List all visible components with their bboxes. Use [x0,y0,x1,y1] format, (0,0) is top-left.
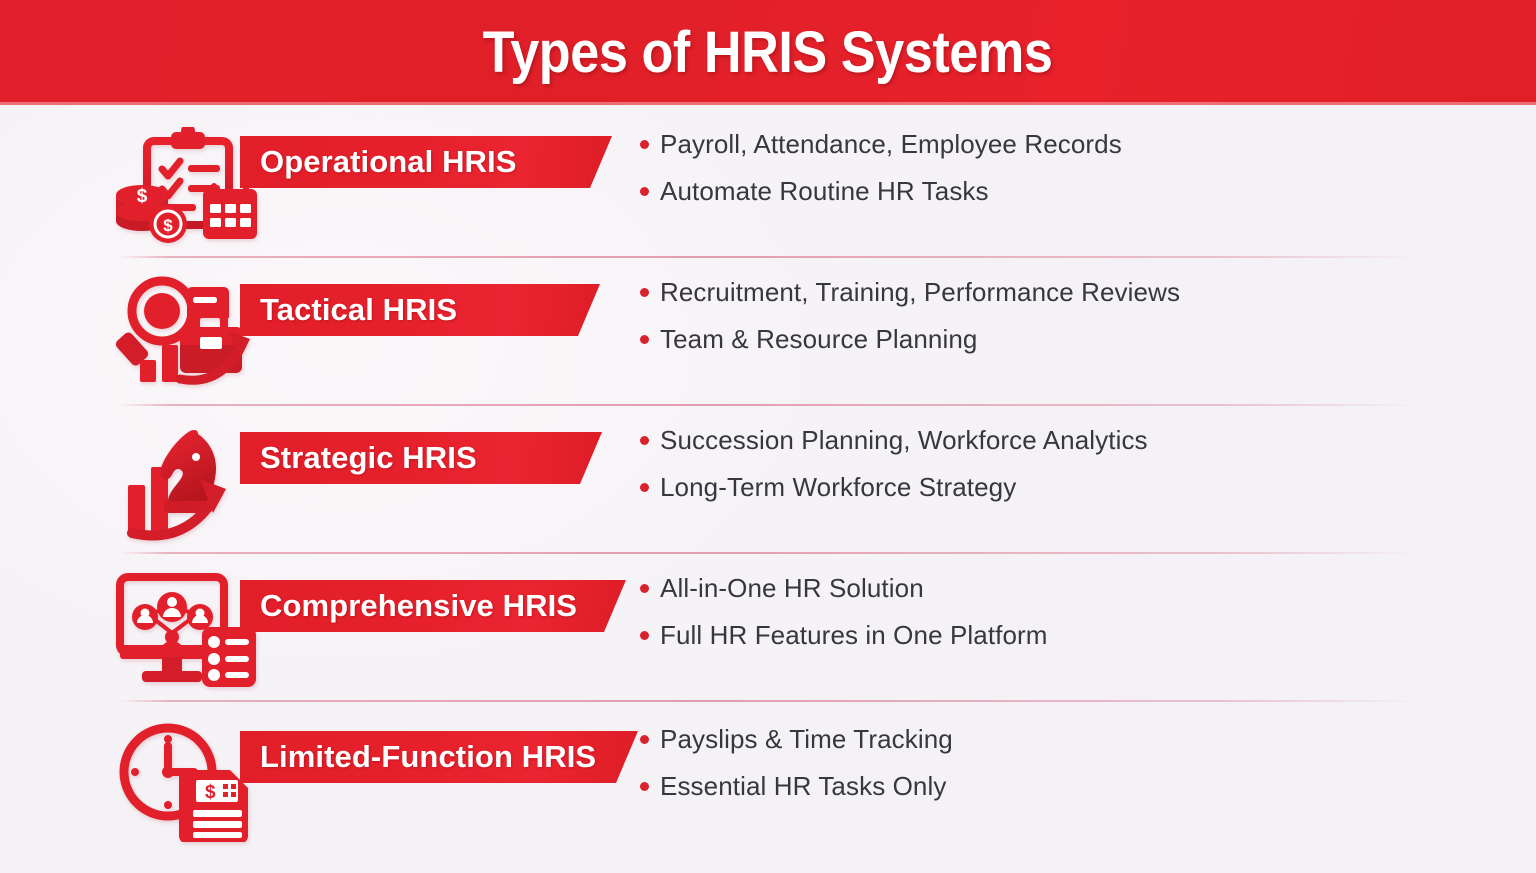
row-label: Strategic HRIS [260,440,477,476]
row-label-ribbon: Tactical HRIS [240,284,600,336]
bullet-dot-icon [640,631,649,640]
hris-type-list: $ $ [0,105,1536,873]
clock-payslip-icon: $ [112,719,262,844]
bullet-label: Recruitment, Training, Performance Revie… [660,276,1180,309]
row-label-ribbon: Limited-Function HRIS [240,731,638,783]
bullet-dot-icon [640,483,649,492]
magnifier-briefcase-growth-icon [112,272,262,397]
bullet-dot-icon [640,735,649,744]
monitor-org-chart-checklist-icon [112,568,262,693]
bullet-item: Recruitment, Training, Performance Revie… [640,276,1500,309]
clipboard-coins-calendar-icon: $ $ [112,124,262,249]
bullet-item: All-in-One HR Solution [640,572,1500,605]
header-banner: Types of HRIS Systems [0,0,1536,105]
bullet-label: Team & Resource Planning [660,323,977,356]
bullet-item: Essential HR Tasks Only [640,770,1500,803]
row-bullet-list: Recruitment, Training, Performance Revie… [640,276,1500,369]
bullet-dot-icon [640,436,649,445]
bullet-label: Automate Routine HR Tasks [660,175,989,208]
bullet-label: Succession Planning, Workforce Analytics [660,424,1148,457]
bullet-dot-icon [640,140,649,149]
list-item: $ Limited-Function HRIS [0,705,1536,853]
page-title: Types of HRIS Systems [483,19,1053,86]
list-item: Comprehensive HRIS All-in-One HR Solutio… [0,554,1536,702]
svg-text:$: $ [205,782,216,803]
row-bullet-list: Payroll, Attendance, Employee Records Au… [640,128,1500,221]
svg-text:$: $ [137,186,148,207]
bullet-label: Full HR Features in One Platform [660,619,1048,652]
bullet-item: Payslips & Time Tracking [640,723,1500,756]
row-label: Operational HRIS [260,144,517,180]
list-item: Strategic HRIS Succession Planning, Work… [0,406,1536,554]
bullet-dot-icon [640,187,649,196]
bullet-item: Automate Routine HR Tasks [640,175,1500,208]
bullet-item: Payroll, Attendance, Employee Records [640,128,1500,161]
bullet-label: Long-Term Workforce Strategy [660,471,1016,504]
row-label: Limited-Function HRIS [260,739,596,775]
row-label: Comprehensive HRIS [260,588,577,624]
row-label-ribbon: Comprehensive HRIS [240,580,626,632]
bullet-dot-icon [640,288,649,297]
row-bullet-list: All-in-One HR Solution Full HR Features … [640,572,1500,665]
list-item: $ $ [0,110,1536,258]
bullet-item: Team & Resource Planning [640,323,1500,356]
bullet-label: All-in-One HR Solution [660,572,924,605]
bullet-item: Full HR Features in One Platform [640,619,1500,652]
bullet-dot-icon [640,335,649,344]
infographic-poster: Types of HRIS Systems [0,0,1536,873]
list-item: Tactical HRIS Recruitment, Training, Per… [0,258,1536,406]
row-label: Tactical HRIS [260,292,457,328]
bullet-label: Essential HR Tasks Only [660,770,946,803]
bullet-item: Succession Planning, Workforce Analytics [640,424,1500,457]
row-bullet-list: Payslips & Time Tracking Essential HR Ta… [640,723,1500,816]
row-divider [118,700,1420,702]
row-label-ribbon: Operational HRIS [240,136,612,188]
bullet-dot-icon [640,584,649,593]
svg-text:$: $ [163,216,173,235]
bullet-dot-icon [640,782,649,791]
row-label-ribbon: Strategic HRIS [240,432,602,484]
row-bullet-list: Succession Planning, Workforce Analytics… [640,424,1500,517]
chess-knight-growth-chart-icon [112,420,262,545]
bullet-label: Payroll, Attendance, Employee Records [660,128,1122,161]
bullet-label: Payslips & Time Tracking [660,723,953,756]
bullet-item: Long-Term Workforce Strategy [640,471,1500,504]
